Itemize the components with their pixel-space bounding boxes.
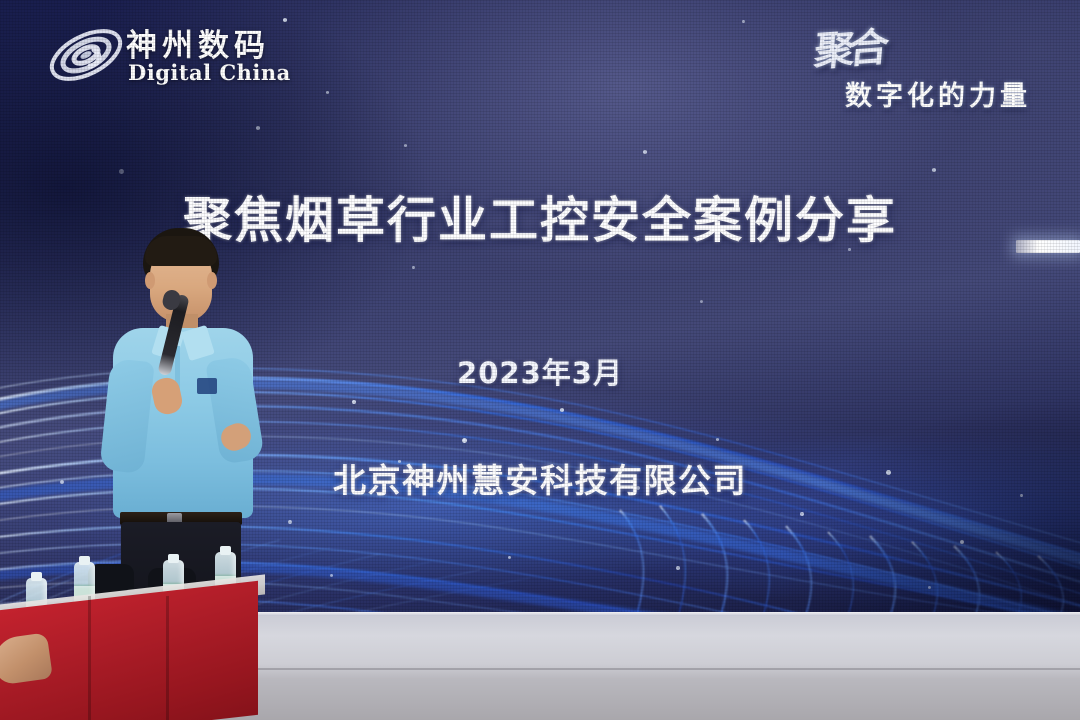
- bottle-cap: [79, 556, 90, 565]
- speaker-shirt-logo: [197, 378, 217, 394]
- bottle-cap: [220, 546, 231, 555]
- particle-dot: [932, 168, 936, 172]
- digital-china-english: Digital China: [128, 60, 291, 85]
- juhe-calligraphy: 聚合: [811, 8, 978, 83]
- digital-china-chinese: 神州数码: [126, 20, 270, 65]
- bottle-cap: [168, 554, 179, 563]
- particle-dot: [404, 144, 407, 147]
- particle-dot: [119, 169, 124, 174]
- digital-china-logo: 神州数码 Digital China: [44, 18, 304, 92]
- juhe-logo: 聚合 数字化的力量: [815, 14, 1065, 114]
- speaker-ear-right: [207, 272, 217, 289]
- bottle-cap: [31, 572, 42, 581]
- attendee-arm: [0, 632, 53, 685]
- tablecloth-fold: [166, 596, 169, 720]
- tablecloth-fold: [88, 596, 91, 720]
- particle-dot: [256, 126, 260, 130]
- particle-dot: [643, 150, 647, 154]
- particle-dot: [742, 20, 745, 23]
- particle-dot: [412, 266, 415, 269]
- juhe-subtitle: 数字化的力量: [845, 74, 1031, 113]
- particle-dot: [700, 300, 703, 303]
- stage-floor-seam: [250, 668, 1080, 670]
- spiral-galaxy-icon: [44, 20, 128, 90]
- speaker-ear-left: [145, 272, 155, 289]
- speaker-hair-front: [145, 236, 217, 266]
- conference-photo: 神州数码 Digital China 聚合 数字化的力量 聚焦烟草行业工控安全案…: [0, 0, 1080, 720]
- particle-dot: [326, 91, 329, 94]
